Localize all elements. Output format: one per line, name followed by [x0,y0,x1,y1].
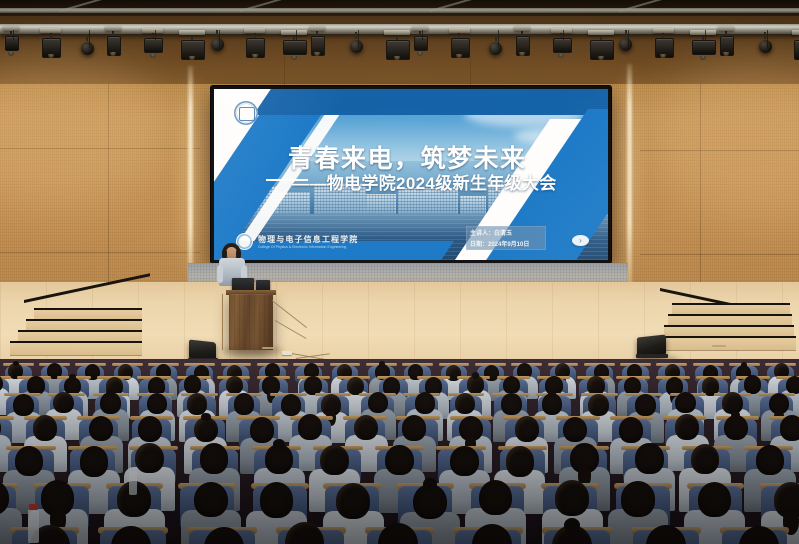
lamp-power-cable [219,30,220,48]
audience-head [194,482,228,518]
lamp-yoke [355,32,357,39]
lamp-power-cable [705,30,706,40]
moving-head-lamp [759,40,772,53]
university-seal-logo [234,101,258,125]
audience-member [456,524,527,544]
audience-hair-bun [741,362,747,368]
lamp-body [5,36,19,51]
moving-head-lamp [619,38,632,51]
lamp-power-cable [358,30,359,48]
campus-building [460,196,486,214]
lamp-barn-door [718,26,734,31]
audience-head [588,394,608,416]
audience-head [675,414,699,440]
audience-head [503,376,520,395]
audience-head [147,393,167,415]
audience-head [111,526,151,544]
audience-head [33,415,57,441]
audience-head [786,376,799,395]
stage-spotlight [386,34,408,62]
lamp-barn-door [514,26,530,31]
stage-spotlight [618,30,634,54]
wall-seam [640,254,799,255]
slide-next-button[interactable]: › [572,235,589,246]
lamp-lens [48,54,54,58]
lamp-barn-door [412,26,428,31]
audience-head [336,483,370,519]
lamp-body [794,40,799,60]
stage-spotlight [181,34,203,62]
stage-spotlight [107,30,119,58]
audience-head [354,415,378,441]
audience-head [698,482,732,518]
stage-spotlight [42,32,59,60]
lamp-barn-door [40,28,61,33]
audience-head [739,526,779,544]
stage-spotlight [516,30,528,58]
lamp-lens [519,52,525,56]
stairs-nosing-right [664,325,794,327]
audience-head [621,481,655,517]
moving-head-lamp [489,42,502,55]
stage-spotlight [283,34,305,57]
lamp-body [144,38,163,53]
audience-head [501,393,521,415]
audience-head [744,375,761,394]
audience-head [635,394,655,416]
lamp-body [692,40,716,55]
audience-head [506,446,535,476]
wall-seam [470,56,471,86]
audience-head [234,393,254,415]
audience-head [691,444,720,474]
audience-head [285,522,325,544]
lamp-power-cable [563,30,564,40]
audience-head [187,393,207,415]
audience-head [184,375,201,394]
lamp-power-cable [89,30,90,48]
audience-head [646,525,686,544]
stage-spotlight [692,34,714,57]
stairs-nosing-left [34,308,142,310]
slide-footer-cn: 物理与电子信息工程学院 [258,234,358,245]
floor-marker-tape [712,345,726,347]
audience-member [630,525,701,544]
lamp-power-cable [422,30,423,40]
lamp-barn-door [309,26,325,31]
lamp-barn-door [653,28,674,33]
slide-date-line: 日期：2024年9月10日 [470,239,529,248]
audience-head [298,414,322,440]
moving-head-lamp [211,38,224,51]
audience-head [281,394,301,416]
stairs-nosing-left [26,319,142,321]
lamp-power-cable [498,30,499,48]
lamp-yoke [86,34,88,41]
lamp-power-cable [296,30,297,40]
audience-member [537,525,608,544]
lamp-lens [598,56,604,60]
audience-hair-bun [564,518,580,533]
lamp-body [283,40,307,55]
audience-head [200,443,229,473]
slide-band-blue-top [253,89,608,115]
audience-hair-bun [548,390,556,398]
lamp-barn-door [588,30,614,35]
lamp-yoke [216,30,218,37]
audience-head [455,393,475,415]
audience-head [472,524,512,544]
audience-head [138,416,162,442]
lamp-power-cable [13,30,14,40]
audience-head [415,392,435,414]
lamp-barn-door [3,26,19,31]
stage-spotlight [655,32,672,60]
audience-head [385,445,414,475]
slide-subtitle: ——物电学院2024级新生年级大会 [292,169,557,194]
stage-spotlight [757,32,773,56]
stairs-nosing-right [660,336,796,338]
stage-spotlight [144,32,161,55]
audience-head [53,392,73,414]
lamp-power-cable [628,30,629,48]
stage-spotlight [414,30,426,53]
audience-head [226,376,243,395]
water-bottle [129,471,137,495]
audience-head [260,482,294,518]
wall-seam [0,252,200,253]
audience-head [13,394,33,416]
seated-audience [0,359,799,544]
lamp-lens [394,56,400,60]
lamp-barn-door [384,30,410,35]
wall-seam [284,56,285,86]
lamp-body [414,36,428,51]
stage-spotlight [79,34,95,58]
lamp-barn-door [281,30,307,35]
wall-seam [0,148,200,149]
audience-head [515,416,539,442]
lamp-yoke [625,30,627,37]
stage-spotlight [311,30,323,58]
audience-head [80,446,109,476]
audience-head [780,415,799,441]
audience-head [204,527,244,544]
audience-head [450,446,479,476]
bottle-cap-icon [29,504,38,510]
lamp-lens [150,54,156,58]
stage-spotlight [348,32,364,56]
light-strip-right [627,64,632,292]
lamp-barn-door [105,26,121,31]
lamp-barn-door [244,28,265,33]
audience-member [95,526,166,544]
stage-spotlight [794,34,799,62]
floor-power-strip [282,351,292,355]
stairs-nosing-left [18,330,142,332]
lamp-lens [417,52,423,56]
stage-spotlight [488,34,504,58]
lamp-barn-door [792,30,799,35]
moving-head-lamp [81,42,94,55]
stage-stairs-left [10,343,142,355]
audience-head [250,417,274,443]
stairs-nosing-right [668,314,792,316]
audience-head [675,392,695,414]
stage-spotlight [209,30,225,54]
lamp-power-cable [767,30,768,48]
audience-head [619,417,643,443]
lamp-body [553,38,572,53]
audience-hair-bun [69,374,76,380]
audience-head [320,445,349,475]
slide-speaker-line: 主讲人：白清玉 [470,228,512,237]
audience-head [635,443,664,473]
audience-member [15,525,86,544]
lamp-barn-door [551,28,572,33]
campus-building [366,194,396,214]
audience-head [756,445,785,475]
wall-seam [640,150,799,151]
audience-member [269,522,340,544]
truss-upper-pipe [0,8,799,13]
chevron-right-icon: › [579,236,582,245]
audience-head [402,415,426,441]
moving-head-lamp [350,40,363,53]
audience-head [89,416,113,442]
audience-hair-bun [423,478,436,490]
monitor-base-right [636,354,668,358]
audience-member [189,527,260,544]
audience-head [368,392,388,414]
slide-footer-en: College Of Physics & Electronic Informat… [258,245,346,249]
lamp-barn-door [142,28,163,33]
lamp-barn-door [449,28,470,33]
audience-head [555,480,589,516]
auditorium-photo: 青春来电，筑梦未来 ——物电学院2024级新生年级大会 主讲人：白清玉 日期：2… [0,0,799,544]
floor-marker-tape [262,347,276,349]
audience-hair-bun [472,372,479,378]
stage-spotlight [590,34,612,62]
lamp-power-cable [155,30,156,40]
stage-spotlight [720,30,732,58]
stage-spotlight [246,32,263,60]
audience-member [724,526,795,544]
audience-hair-bun [13,361,19,367]
light-strip-left [188,66,193,292]
lamp-yoke [764,32,766,39]
stage-spotlight [5,30,17,53]
stage-spotlight [451,32,468,60]
lamp-barn-door [690,30,716,35]
presentation-slide: 青春来电，筑梦未来 ——物电学院2024级新生年级大会 主讲人：白清玉 日期：2… [214,89,608,260]
audience-head [479,480,513,516]
led-screen-frame: 青春来电，筑梦未来 ——物电学院2024级新生年级大会 主讲人：白清玉 日期：2… [211,86,611,263]
wooden-podium [229,294,273,350]
water-bottle [28,509,39,543]
audience-member [363,523,434,544]
audience-hair-bun [201,413,211,422]
audience-head [378,523,418,544]
audience-head [15,446,44,476]
stairs-nosing-right [672,303,790,305]
audience-head [563,417,587,443]
audience-head [135,443,164,473]
lamp-barn-door [179,30,205,35]
presenter-arm [217,265,223,283]
stage-stairs-right [660,338,796,350]
stage-spotlight [553,32,570,55]
lamp-yoke [495,34,497,41]
stairs-nosing-left [10,341,142,343]
mic-stand [222,294,223,350]
